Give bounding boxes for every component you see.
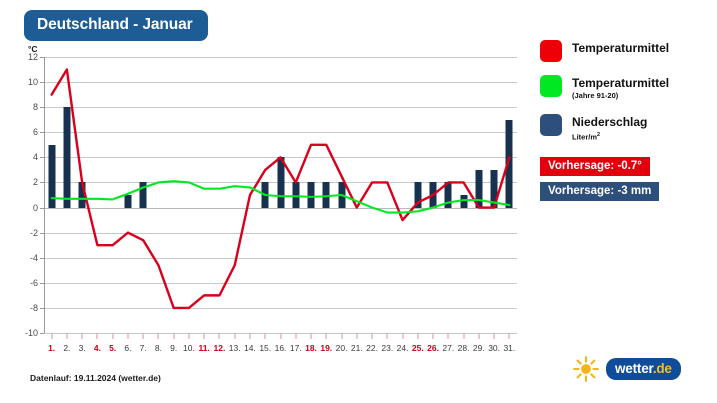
- y-axis-tick-label: -4: [30, 253, 38, 263]
- x-axis-tick-label: 29.: [473, 343, 485, 353]
- y-axis-tick-label: -10: [25, 328, 38, 338]
- x-axis-tick-label: 31.: [503, 343, 515, 353]
- x-axis-tick-label: 15.: [259, 343, 271, 353]
- legend-item-temperature-mean: Temperaturmittel (Jahre 91-20): [540, 75, 717, 101]
- x-axis-tick-label: 25.: [412, 343, 424, 353]
- x-axis-tick-label: 21.: [351, 343, 363, 353]
- temperature-lines: [44, 57, 517, 333]
- y-axis-tick-label: -2: [30, 228, 38, 238]
- legend-item-temperature: Temperaturmittel: [540, 40, 717, 62]
- y-axis-tick-label: 6: [33, 127, 38, 137]
- legend-item-precipitation: Niederschlag Liter/m2: [540, 114, 717, 143]
- legend-swatch-icon: [540, 114, 562, 136]
- x-axis-tick-label: 20.: [336, 343, 348, 353]
- x-axis-tick-label: 16.: [275, 343, 287, 353]
- legend-swatch-icon: [540, 40, 562, 62]
- y-axis-tick-label: 8: [33, 102, 38, 112]
- y-axis-tick-label: 12: [28, 52, 38, 62]
- legend-swatch-icon: [540, 75, 562, 97]
- x-axis-tick-label: 17.: [290, 343, 302, 353]
- y-axis-tick-label: 0: [33, 203, 38, 213]
- x-axis-tick-label: 6.: [124, 343, 131, 353]
- forecast-temperature-badge: Vorhersage: -0.7°: [540, 157, 650, 176]
- y-axis-tick-label: -8: [30, 303, 38, 313]
- y-axis-tick-label: 4: [33, 152, 38, 162]
- legend-label: Temperaturmittel: [572, 41, 669, 55]
- legend-sublabel: (Jahre 91-20): [572, 91, 669, 101]
- x-axis-tick-label: 4.: [94, 343, 101, 353]
- x-axis-tick-label: 3.: [79, 343, 86, 353]
- gridline: [44, 333, 517, 334]
- brand-name: wetter.de: [606, 358, 681, 380]
- chart-page: Deutschland - Januar °C 121086420-2-4-6-…: [0, 0, 717, 403]
- climate-mean-line: [52, 181, 510, 212]
- y-axis-tick-label: 2: [33, 177, 38, 187]
- x-axis-tick-label: 19.: [320, 343, 332, 353]
- x-axis-tick-label: 5.: [109, 343, 116, 353]
- y-axis-tick-label: -6: [30, 278, 38, 288]
- x-axis-tick-label: 24.: [397, 343, 409, 353]
- x-axis-tick-label: 14.: [244, 343, 256, 353]
- x-axis-tick-label: 12.: [214, 343, 226, 353]
- y-axis-tick: [40, 333, 44, 334]
- temperature-line: [52, 70, 510, 308]
- x-axis-tick-label: 30.: [488, 343, 500, 353]
- brand-logo[interactable]: wetter.de: [572, 355, 681, 383]
- legend-label: Niederschlag: [572, 115, 647, 129]
- x-axis-tick-label: 28.: [458, 343, 470, 353]
- forecast-block: Vorhersage: -0.7° Vorhersage: -3 mm: [540, 156, 717, 206]
- x-axis-tick-label: 23.: [381, 343, 393, 353]
- sun-icon: [572, 355, 600, 383]
- y-axis-tick-label: 10: [28, 77, 38, 87]
- plot-area: 121086420-2-4-6-8-10 1.2.3.4.5.6.7.8.9.1…: [44, 57, 517, 333]
- x-axis-tick-label: 2.: [63, 343, 70, 353]
- chart-panel: °C 121086420-2-4-6-8-10 1.2.3.4.5.6.7.8.…: [0, 0, 530, 403]
- x-axis-tick-label: 9.: [170, 343, 177, 353]
- legend-label: Temperaturmittel: [572, 76, 669, 90]
- data-run-note: Datenlauf: 19.11.2024 (wetter.de): [30, 373, 161, 383]
- x-axis-tick-label: 13.: [229, 343, 241, 353]
- x-axis-tick-label: 27.: [442, 343, 454, 353]
- x-axis-tick-label: 10.: [183, 343, 195, 353]
- legend-sublabel: Liter/m2: [572, 130, 647, 143]
- x-axis-tick-label: 11.: [199, 343, 210, 353]
- x-axis-tick-label: 1.: [48, 343, 55, 353]
- legend: Temperaturmittel Temperaturmittel (Jahre…: [540, 40, 717, 206]
- forecast-precipitation-badge: Vorhersage: -3 mm: [540, 182, 659, 201]
- x-axis-tick-label: 8.: [155, 343, 162, 353]
- x-axis-tick-label: 26.: [427, 343, 439, 353]
- x-axis-tick-label: 7.: [140, 343, 147, 353]
- x-axis-tick-label: 22.: [366, 343, 378, 353]
- x-axis-tick-label: 18.: [305, 343, 317, 353]
